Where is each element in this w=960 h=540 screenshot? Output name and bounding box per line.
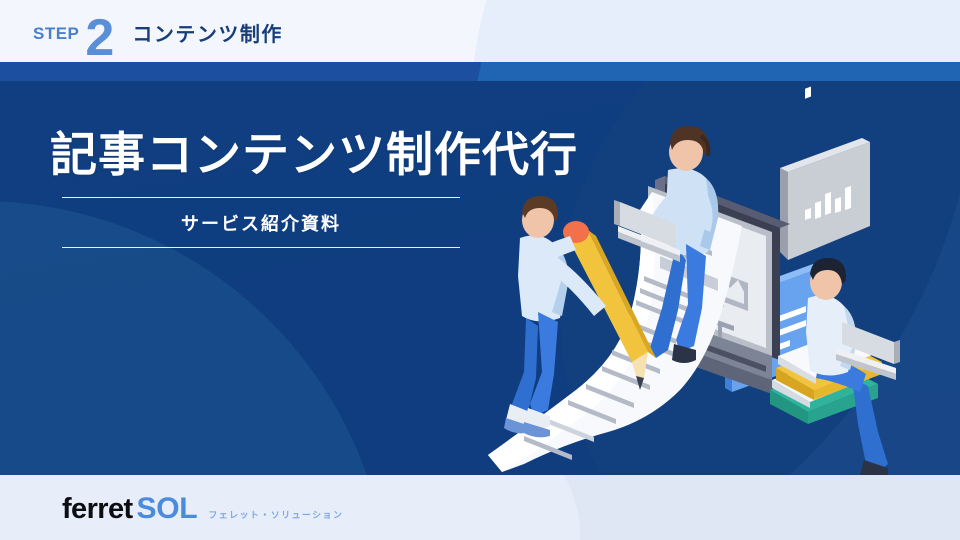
- person-on-book-stack-with-laptop: [806, 258, 900, 481]
- subtitle-block: サービス紹介資料: [62, 197, 460, 248]
- content-creation-illustration: [480, 60, 960, 540]
- slide-canvas: STEP 2 コンテンツ制作 記事コンテンツ制作代行 サービス紹介資料: [0, 0, 960, 540]
- logo-primary-text: ferret: [62, 495, 133, 524]
- bar-chart-card: [780, 87, 870, 260]
- slide-header: STEP 2 コンテンツ制作: [0, 0, 960, 62]
- brand-logo: ferret SOL フェレット・ソリューション: [62, 494, 343, 524]
- subtitle-rule-bottom: [62, 247, 460, 248]
- step-label: STEP: [33, 25, 79, 42]
- logo-kana-text: フェレット・ソリューション: [208, 508, 343, 521]
- step-indicator: STEP 2 コンテンツ制作: [33, 0, 283, 62]
- page-subtitle: サービス紹介資料: [62, 198, 460, 247]
- step-title: コンテンツ制作: [132, 18, 283, 47]
- subtitle-rule-top: [62, 197, 460, 198]
- logo-accent-text: SOL: [137, 494, 198, 524]
- step-number: 2: [85, 12, 113, 62]
- header-decorative-circle: [470, 0, 960, 62]
